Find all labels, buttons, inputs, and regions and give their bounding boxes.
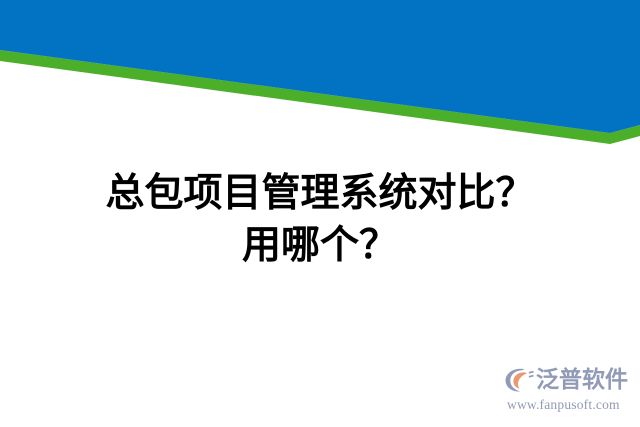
header-banner-shape (0, 0, 640, 160)
slide-canvas: 总包项目管理系统对比？ 用哪个？ 泛普软件 www.fanpusoft.com (0, 0, 640, 427)
fanpu-logo-icon (504, 366, 534, 394)
header-blue-banner (0, 0, 640, 133)
watermark-brand-text: 泛普软件 (536, 367, 628, 393)
watermark-url-text: www.fanpusoft.com (507, 397, 620, 413)
header-banner (0, 0, 640, 160)
page-title: 总包项目管理系统对比？ 用哪个？ (0, 168, 640, 272)
title-line-2: 用哪个？ (0, 220, 640, 272)
watermark: 泛普软件 www.fanpusoft.com (504, 364, 636, 416)
header-green-stripe (0, 50, 640, 144)
title-line-1: 总包项目管理系统对比？ (0, 168, 640, 220)
watermark-logo-row: 泛普软件 (504, 364, 628, 396)
